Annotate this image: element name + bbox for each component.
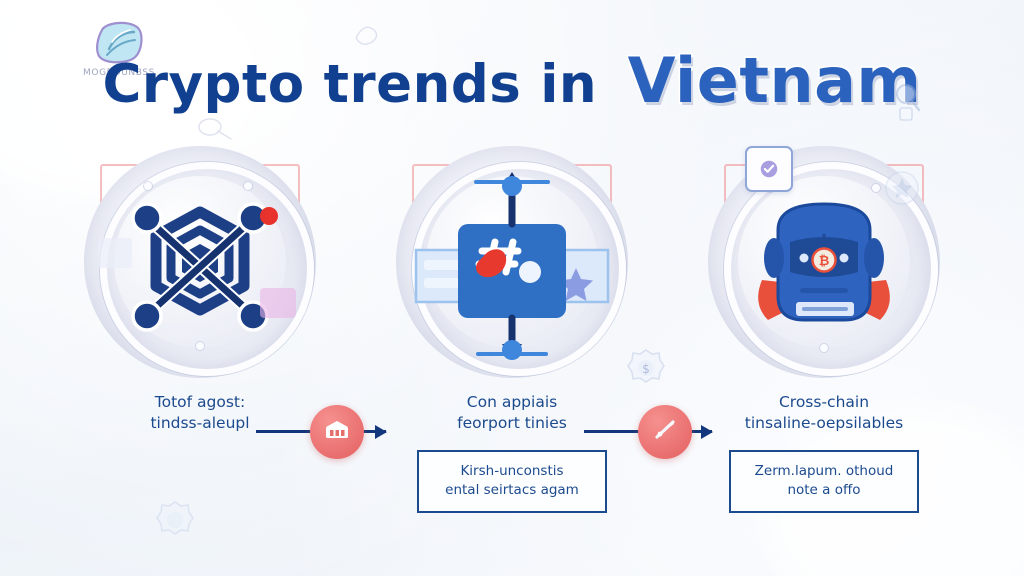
bidirectional-exchange-arrows-icon	[396, 146, 628, 378]
step-2-note-line-2: ental seirtacs agam	[427, 481, 597, 500]
step-3-scene: ₿	[708, 146, 940, 378]
step-2-scene	[396, 146, 628, 378]
coin-seal-icon	[155, 500, 195, 540]
step-1-caption-line-1: Totof agost:	[50, 392, 350, 413]
step-3-note-line-2: note a offo	[739, 481, 909, 500]
step-1-caption: Totof agost: tindss-aleupl	[50, 392, 350, 434]
coin-seal-icon: $	[626, 348, 666, 388]
step-2-caption-line-1: Con appiais	[362, 392, 662, 413]
step-3-caption: Cross-chain tinsaline-oepsilables	[674, 392, 974, 434]
svg-text:₿: ₿	[819, 254, 830, 269]
step-2-caption: Con appiais feorport tinies	[362, 392, 662, 434]
clock-check-card-icon	[745, 146, 793, 192]
step-1-scene	[84, 146, 316, 378]
page-title-primary: Crypto trends in	[102, 54, 597, 115]
crypto-robot-bot-icon: ₿	[708, 146, 940, 378]
step-3-caption-line-2: tinsaline-oepsilables	[674, 413, 974, 434]
step-3-note-line-1: Zerm.lapum. othoud	[739, 462, 909, 481]
step-3-note-box: Zerm.lapum. othoud note a offo	[729, 450, 919, 513]
steps-stage: Totof agost: tindss-aleupl	[0, 140, 1024, 540]
svg-text:$: $	[642, 362, 650, 376]
step-column-3: ₿ Cross-chain tinsaline-oepsilables Zerm…	[654, 140, 994, 540]
page-title-accent: Vietnam	[628, 44, 922, 117]
infographic-canvas: MOGROUNBSS Crypto trends in Vietnam	[0, 0, 1024, 576]
step-column-2: Con appiais feorport tinies Kirsh-uncons…	[342, 140, 682, 540]
blockchain-hexagon-network-icon	[84, 146, 316, 378]
step-2-caption-line-2: feorport tinies	[362, 413, 662, 434]
step-2-note-line-1: Kirsh-unconstis	[427, 462, 597, 481]
step-2-note-box: Kirsh-unconstis ental seirtacs agam	[417, 450, 607, 513]
step-column-1: Totof agost: tindss-aleupl	[30, 140, 370, 540]
step-3-caption-line-1: Cross-chain	[674, 392, 974, 413]
step-1-caption-line-2: tindss-aleupl	[50, 413, 350, 434]
page-title: Crypto trends in Vietnam	[0, 44, 1024, 117]
